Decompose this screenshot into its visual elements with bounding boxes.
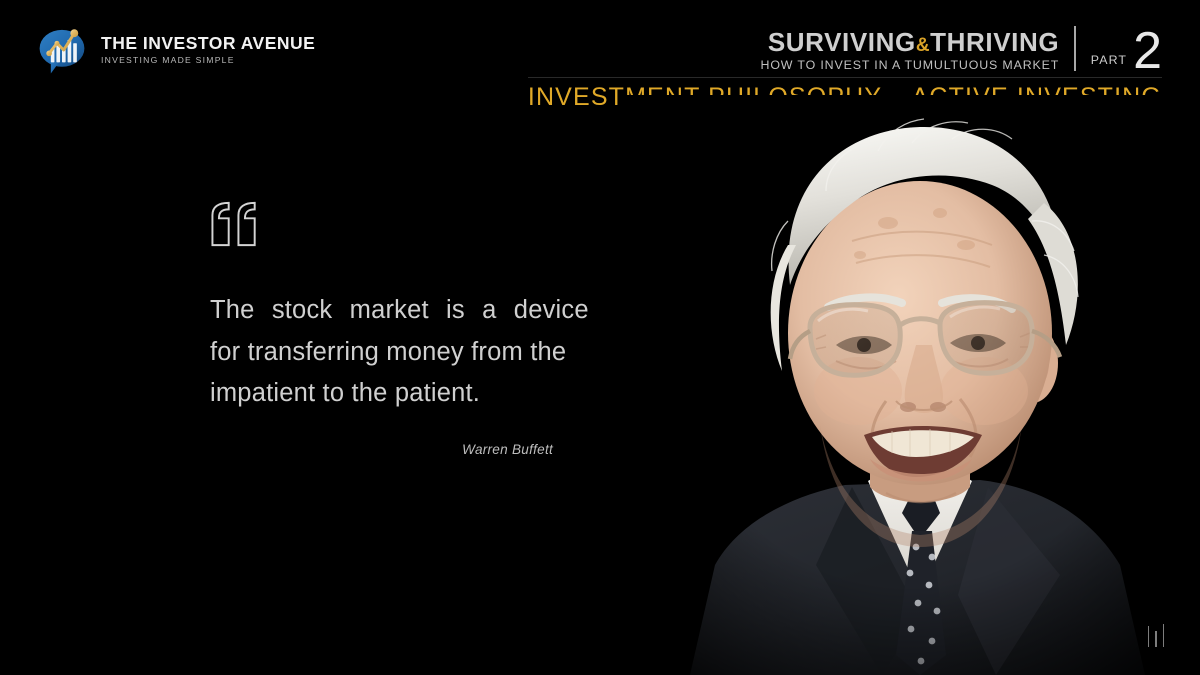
brand-logo[interactable]: THE INVESTOR AVENUE INVESTING MADE SIMPL…: [34, 22, 315, 78]
header-underline-rule: [528, 77, 1162, 78]
kicker-ampersand: &: [916, 35, 930, 56]
part-indicator: PART 2: [1091, 31, 1162, 73]
brand-tagline: INVESTING MADE SIMPLE: [101, 56, 315, 65]
portrait-photo: [620, 95, 1200, 675]
brand-logo-text: THE INVESTOR AVENUE INVESTING MADE SIMPL…: [101, 35, 315, 64]
header-vertical-divider: [1074, 26, 1076, 71]
brand-name: THE INVESTOR AVENUE: [101, 35, 315, 53]
page-tick-1: [1148, 626, 1149, 647]
warren-buffett-portrait-illustration: [620, 95, 1200, 675]
kicker-word-1: SURVIVING: [768, 27, 916, 57]
slide-root: THE INVESTOR AVENUE INVESTING MADE SIMPL…: [0, 0, 1200, 675]
quote-block: The stock market is a device for transfe…: [210, 200, 575, 457]
page-tick-2: [1155, 631, 1156, 647]
quote-line-2: for transferring money from the: [210, 332, 575, 374]
quote-line-1: The stock market is a device: [210, 290, 575, 332]
investor-avenue-chart-bubble-logo-icon: [34, 22, 90, 78]
series-subkicker: HOW TO INVEST IN A TUMULTUOUS MARKET: [761, 58, 1060, 74]
page-tick-3: [1163, 624, 1164, 647]
header-top-row: SURVIVING&THRIVING HOW TO INVEST IN A TU…: [528, 26, 1162, 73]
quote-attribution: Warren Buffett: [210, 442, 575, 457]
quote-text: The stock market is a device for transfe…: [210, 290, 575, 415]
three-vertical-ticks-icon: [1148, 623, 1164, 647]
double-open-quote-outline-icon: [210, 200, 262, 248]
quote-line-3: impatient to the patient.: [210, 373, 575, 415]
header-kicker-stack: SURVIVING&THRIVING HOW TO INVEST IN A TU…: [761, 29, 1060, 73]
part-label: PART: [1091, 54, 1127, 72]
part-number: 2: [1133, 31, 1162, 72]
kicker-word-2: THRIVING: [930, 27, 1059, 57]
series-kicker: SURVIVING&THRIVING: [768, 29, 1059, 57]
